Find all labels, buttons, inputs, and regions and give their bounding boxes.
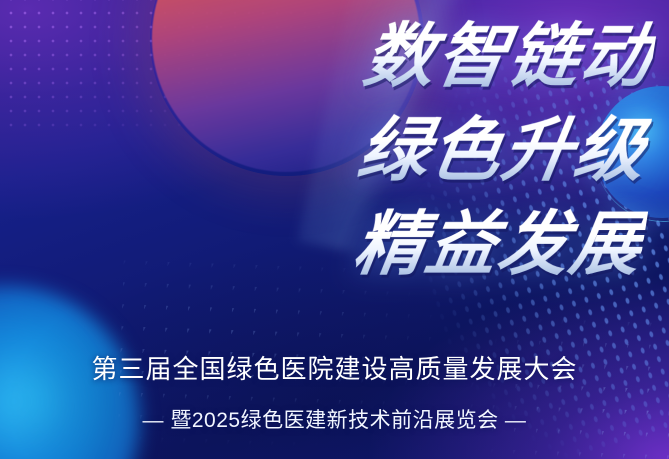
headline-line-1: 数智链动 <box>0 6 661 106</box>
conference-title: 第三届全国绿色医院建设高质量发展大会 <box>0 352 669 386</box>
headline-block: 数智链动 绿色升级 精益发展 <box>0 6 653 294</box>
conference-poster: 数智链动 绿色升级 精益发展 第三届全国绿色医院建设高质量发展大会 — 暨202… <box>0 0 669 459</box>
subtitle-block: 第三届全国绿色医院建设高质量发展大会 — 暨2025绿色医建新技术前沿展览会 — <box>0 352 669 435</box>
exhibition-subtitle: — 暨2025绿色医建新技术前沿展览会 — <box>0 407 669 435</box>
headline-line-3: 精益发展 <box>0 194 651 294</box>
headline-line-2: 绿色升级 <box>0 100 655 200</box>
